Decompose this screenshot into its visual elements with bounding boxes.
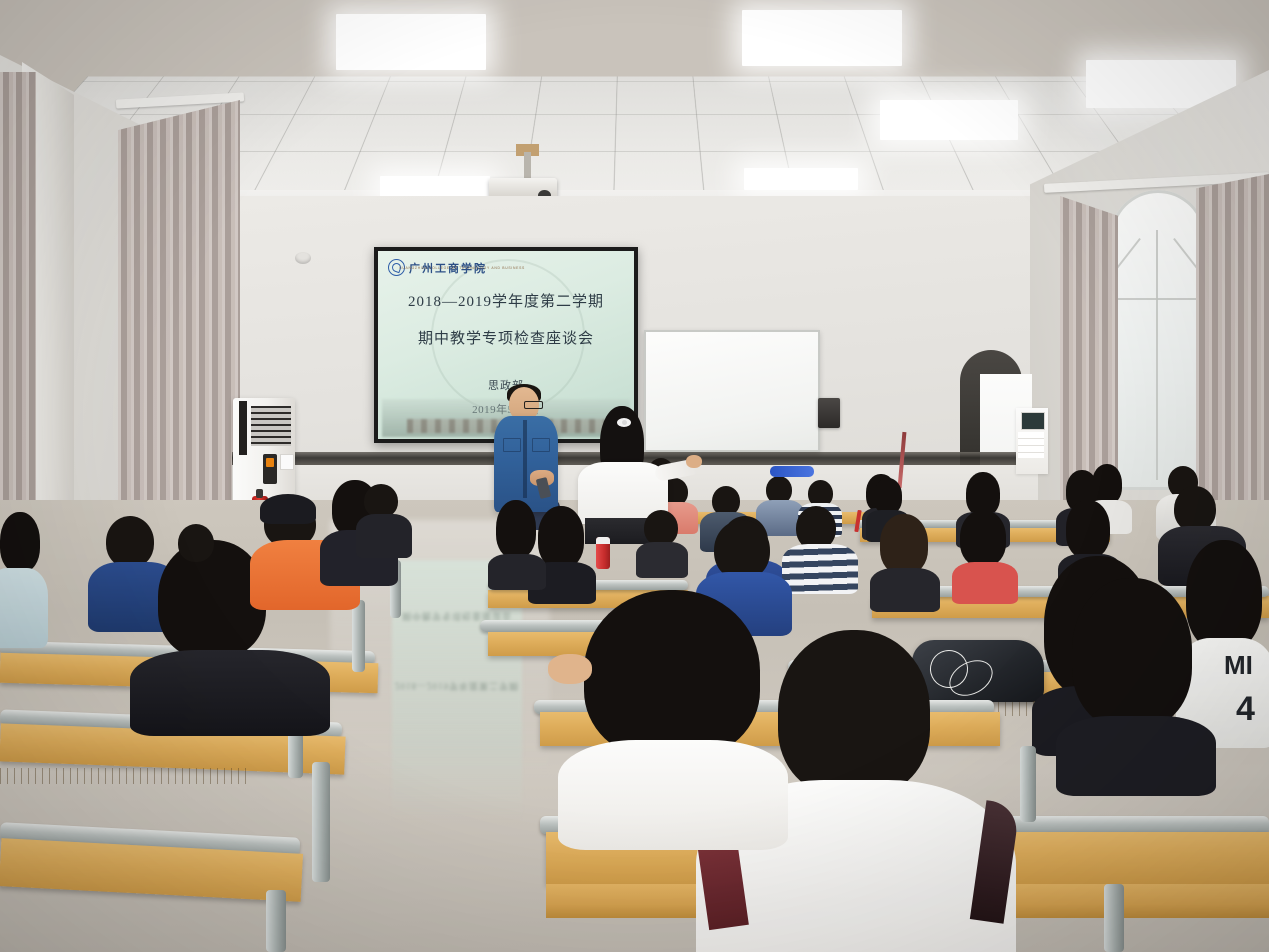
jersey-text: MI (1224, 650, 1253, 681)
student-torso (1056, 716, 1216, 796)
desk-leg-left-2 (312, 762, 330, 882)
arched-window (1110, 190, 1206, 490)
curtain-right-outer (1196, 174, 1269, 534)
slide-title-line1: 2018—2019学年度第二学期 (378, 295, 634, 310)
whiteboard (644, 330, 820, 452)
student-hair (1092, 464, 1122, 504)
presenter-shirt-placket (523, 420, 527, 498)
blue-cloth (770, 466, 814, 477)
student-hair (1072, 578, 1192, 728)
student-hair (496, 500, 536, 558)
slide-department: 思政部 (378, 377, 634, 393)
wall-control-panel-screen (1021, 412, 1045, 430)
student-torso (952, 562, 1018, 604)
air-conditioner-display (263, 454, 277, 484)
student-hair (1066, 500, 1110, 558)
desk-leg-left-3 (266, 890, 286, 952)
thermos-bottle (596, 537, 610, 569)
ceiling-light-4 (380, 176, 490, 198)
student-torso (0, 568, 48, 648)
desk-book-basket-left (0, 768, 250, 784)
smoke-detector-icon (295, 252, 311, 264)
ceiling-light-5 (744, 168, 858, 190)
student-hand (548, 654, 592, 684)
air-conditioner-stripe (239, 401, 247, 455)
ceiling-light-6 (880, 100, 1018, 140)
student-torso (488, 554, 546, 590)
student-hair (538, 506, 584, 568)
student-head (644, 510, 678, 546)
hair-bow (617, 418, 631, 427)
projection-screen: 广州工商学院 GUANGZHOU COLLEGE OF TECHNOLOGY A… (374, 247, 638, 443)
desk-leg-front-2 (1104, 884, 1124, 952)
ceiling-light-2 (742, 10, 902, 66)
student-hair (960, 510, 1006, 566)
student-torso (558, 740, 788, 850)
student-torso (782, 544, 858, 594)
curtain-left-far (0, 72, 36, 552)
student-hair (874, 478, 902, 514)
desk-leg-front-1 (1020, 746, 1036, 822)
student-hair (880, 514, 928, 574)
presenter-glasses-icon (524, 401, 543, 409)
slide-title: 2018—2019学年度第二学期 期中教学专项检查座谈会 (378, 295, 634, 347)
student-torso (870, 568, 940, 612)
student-hair (1186, 540, 1262, 650)
wall-speaker (818, 398, 840, 428)
desk-leg-left-4 (352, 600, 365, 672)
air-conditioner-vent (251, 406, 291, 446)
window-mullion-h (1114, 298, 1202, 300)
presenter-shirt-pocket-left (503, 438, 521, 452)
student-head (178, 524, 214, 562)
window-mullion-v (1156, 230, 1158, 480)
air-conditioner-label (280, 454, 294, 470)
black-cap (260, 494, 316, 524)
standing-student-hand (686, 455, 702, 468)
ceiling-light-1 (336, 14, 486, 70)
projection-screen-face: 广州工商学院 GUANGZHOU COLLEGE OF TECHNOLOGY A… (378, 251, 634, 439)
student-head (106, 516, 154, 568)
curtain-left (118, 100, 240, 530)
student-torso (636, 542, 688, 578)
student-head (778, 630, 930, 796)
student-hair (584, 590, 760, 758)
wall-notices (1018, 432, 1044, 458)
student-head (714, 520, 770, 580)
slide-title-line2: 期中教学专项检查座谈会 (378, 332, 634, 347)
student-torso (130, 650, 330, 736)
classroom-photo: 广州工商学院 GUANGZHOU COLLEGE OF TECHNOLOGY A… (0, 0, 1269, 952)
projector-rod (524, 152, 531, 180)
student-hair (0, 512, 40, 572)
jersey-number: 4 (1236, 690, 1255, 729)
presenter-shirt-pocket-right (532, 438, 550, 452)
student-torso (356, 514, 412, 558)
reflection-line2: 2018—2019学年度第二学期 (392, 680, 522, 693)
student-head (364, 484, 398, 518)
university-name-en: GUANGZHOU COLLEGE OF TECHNOLOGY AND BUSI… (399, 266, 525, 270)
